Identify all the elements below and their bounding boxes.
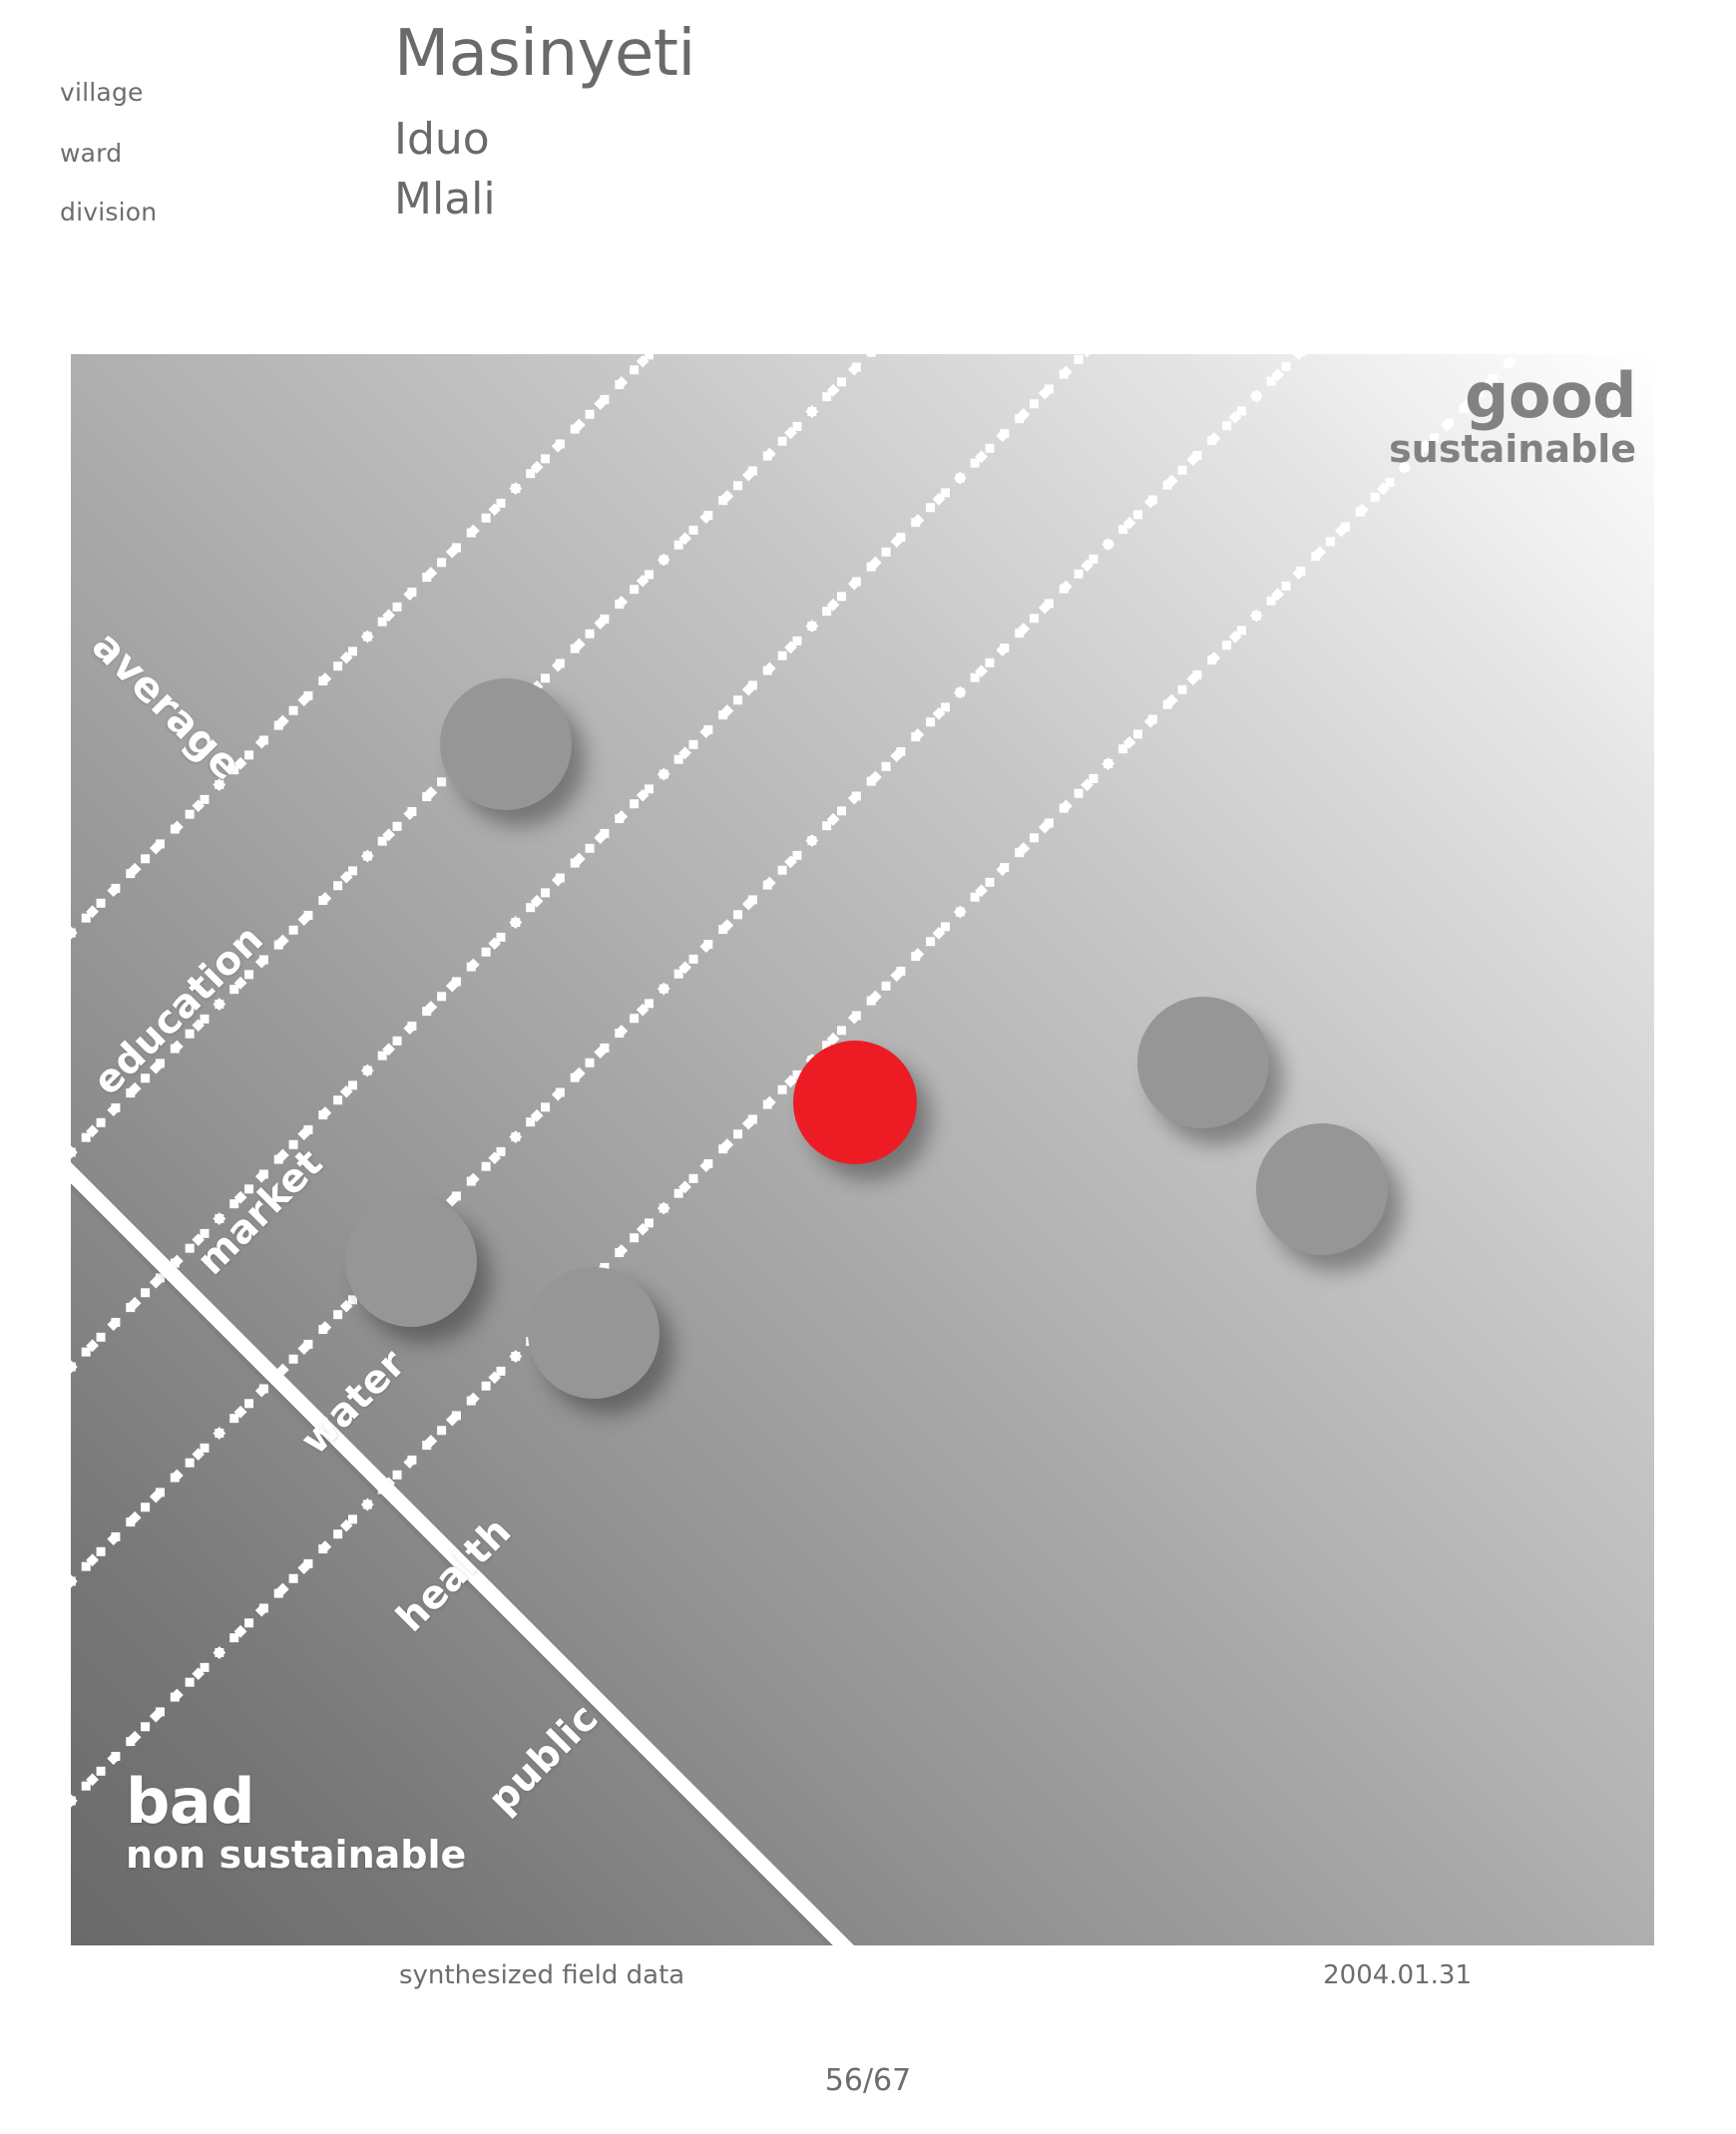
data-source-label: synthesized field data: [399, 1960, 684, 1990]
ward-label: ward: [60, 139, 122, 168]
bad-corner-callout: bad non sustainable: [126, 1770, 466, 1876]
non-sustainable-label: non sustainable: [126, 1834, 466, 1876]
good-label: good: [1389, 364, 1636, 428]
page-header: village ward division Masinyeti Iduo Mla…: [0, 0, 1736, 249]
data-point-water[interactable]: [528, 1267, 659, 1399]
village-label: village: [60, 78, 144, 107]
data-point-health[interactable]: [1137, 997, 1269, 1128]
date-label: 2004.01.31: [1323, 1960, 1472, 1990]
data-point-layer: [71, 354, 1654, 1945]
data-point-market[interactable]: [345, 1195, 477, 1327]
village-name: Masinyeti: [394, 22, 695, 86]
division-name: Mlali: [394, 178, 496, 221]
data-point-public[interactable]: [1256, 1123, 1388, 1255]
good-corner-callout: good sustainable: [1389, 364, 1636, 470]
chart-caption: synthesized field data 2004.01.31: [0, 1960, 1736, 2006]
data-point-education[interactable]: [440, 678, 572, 810]
sustainability-scatter-chart: average educationmarketwaterhealthpublic…: [71, 354, 1654, 1945]
bad-label: bad: [126, 1770, 466, 1834]
data-point-average[interactable]: [793, 1041, 917, 1164]
page-number: 56/67: [0, 2063, 1736, 2098]
ward-name: Iduo: [394, 118, 490, 162]
division-label: division: [60, 198, 157, 226]
sustainable-label: sustainable: [1389, 428, 1636, 470]
